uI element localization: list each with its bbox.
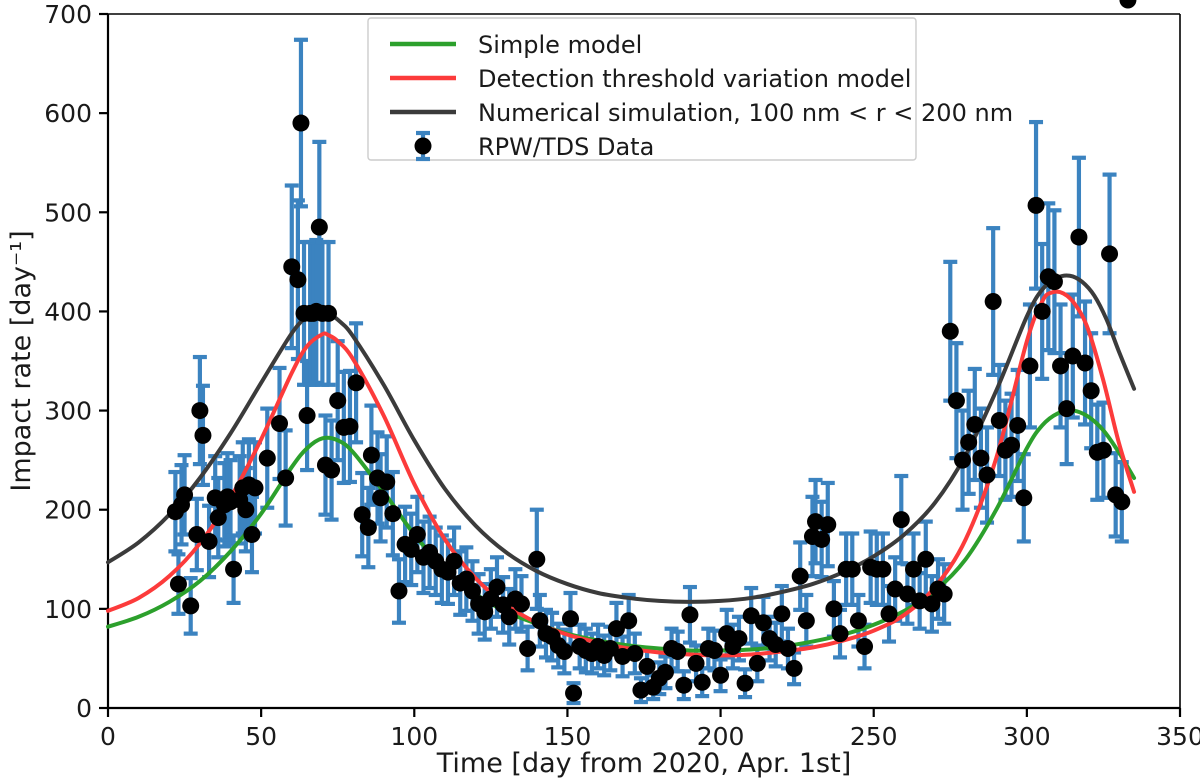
data-point [712, 667, 729, 684]
data-point [501, 608, 518, 625]
data-point [755, 614, 772, 631]
chart-legend: Simple modelDetection threshold variatio… [368, 18, 1013, 161]
data-point [1070, 229, 1087, 246]
data-point [874, 561, 891, 578]
data-point [948, 392, 965, 409]
data-point [191, 402, 208, 419]
data-point [832, 625, 849, 642]
data-point [1101, 245, 1118, 262]
data-point [329, 392, 346, 409]
x-tick-label: 100 [390, 722, 438, 751]
data-point [881, 605, 898, 622]
y-tick-label: 300 [44, 397, 92, 426]
y-tick-label: 400 [44, 297, 92, 326]
data-point [985, 293, 1002, 310]
y-tick-label: 100 [44, 595, 92, 624]
data-point [170, 576, 187, 593]
data-point [556, 643, 573, 660]
data-point [960, 434, 977, 451]
plot-canvas: 0100200300400500600700 05010015020025030… [0, 0, 1200, 784]
data-point [730, 630, 747, 647]
data-point [819, 516, 836, 533]
data-point [513, 595, 530, 612]
y-axis-label: Impact rate [day⁻¹] [6, 230, 37, 491]
data-point [1077, 354, 1094, 371]
data-point [1028, 197, 1045, 214]
x-tick-label: 0 [100, 722, 116, 751]
data-point [792, 568, 809, 585]
data-point [289, 271, 306, 288]
data-point [277, 469, 294, 486]
data-point [669, 643, 686, 660]
y-tick-label: 500 [44, 198, 92, 227]
x-tick-label: 250 [850, 722, 898, 751]
data-point [749, 655, 766, 672]
data-point [237, 501, 254, 518]
data-point [292, 115, 309, 132]
data-point [488, 579, 505, 596]
data-point [446, 553, 463, 570]
data-point [1009, 417, 1026, 434]
legend-marker-swatch [415, 138, 432, 155]
data-point [194, 427, 211, 444]
data-point [779, 640, 796, 657]
legend-label: Simple model [478, 31, 642, 59]
data-point [390, 583, 407, 600]
data-point [942, 323, 959, 340]
data-point [360, 519, 377, 536]
data-point [384, 505, 401, 522]
data-point [259, 450, 276, 467]
data-point [363, 447, 380, 464]
data-point [966, 416, 983, 433]
data-point [694, 674, 711, 691]
data-point [1021, 357, 1038, 374]
x-tick-label: 300 [1003, 722, 1051, 751]
x-tick-label: 150 [544, 722, 592, 751]
impact-rate-chart-figure: 0100200300400500600700 05010015020025030… [0, 0, 1200, 784]
data-point [675, 677, 692, 694]
x-tick-label: 50 [245, 722, 277, 751]
data-point [991, 412, 1008, 429]
y-axis-ticks: 0100200300400500600700 [44, 0, 108, 723]
legend-label: RPW/TDS Data [478, 133, 654, 161]
y-tick-label: 700 [44, 0, 92, 29]
data-point [299, 407, 316, 424]
data-point [182, 597, 199, 614]
data-point [626, 645, 643, 662]
legend-label: Detection threshold variation model [478, 65, 911, 93]
data-point [706, 642, 723, 659]
data-point [688, 655, 705, 672]
y-tick-label: 0 [76, 694, 92, 723]
data-point [979, 467, 996, 484]
data-point [773, 605, 790, 622]
data-point [247, 479, 264, 496]
data-point [620, 612, 637, 629]
data-point [562, 610, 579, 627]
data-point [936, 585, 953, 602]
data-point [372, 489, 389, 506]
data-point [323, 462, 340, 479]
x-axis-ticks: 050100150200250300350 [100, 708, 1200, 751]
data-point [639, 658, 656, 675]
data-point [972, 450, 989, 467]
data-point [681, 606, 698, 623]
data-point [856, 638, 873, 655]
data-point [201, 533, 218, 550]
legend-label: Numerical simulation, 100 nm < r < 200 n… [478, 99, 1013, 127]
data-point [798, 612, 815, 629]
data-point [844, 561, 861, 578]
data-point [850, 612, 867, 629]
data-point [813, 531, 830, 548]
data-point [954, 452, 971, 469]
data-point [1113, 493, 1130, 510]
y-tick-label: 600 [44, 99, 92, 128]
data-point [1003, 437, 1020, 454]
data-point [893, 511, 910, 528]
data-point [176, 486, 193, 503]
data-point [1083, 382, 1100, 399]
data-point [311, 219, 328, 236]
data-point [1058, 400, 1075, 417]
data-point [1046, 273, 1063, 290]
data-point [528, 551, 545, 568]
data-point [225, 561, 242, 578]
x-axis-label: Time [day from 2020, Apr. 1st] [436, 748, 852, 779]
data-point [737, 675, 754, 692]
x-tick-label: 200 [697, 722, 745, 751]
data-point [409, 526, 426, 543]
data-point [1034, 303, 1051, 320]
data-point [565, 685, 582, 702]
data-point [243, 526, 260, 543]
data-point [1015, 489, 1032, 506]
data-point [348, 374, 365, 391]
data-point [1119, 0, 1136, 9]
data-point [1095, 442, 1112, 459]
data-point [917, 551, 934, 568]
y-tick-label: 200 [44, 496, 92, 525]
data-point [786, 660, 803, 677]
data-point [320, 305, 337, 322]
x-tick-label: 350 [1156, 722, 1200, 751]
data-point [271, 415, 288, 432]
data-point [657, 664, 674, 681]
data-point [341, 418, 358, 435]
data-point [825, 600, 842, 617]
data-point [519, 640, 536, 657]
data-point [378, 473, 395, 490]
